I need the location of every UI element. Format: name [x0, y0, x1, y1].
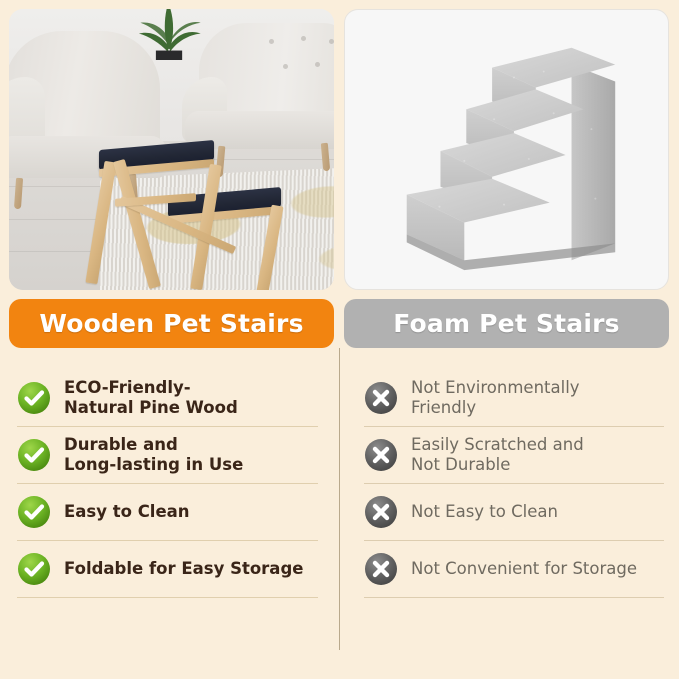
product-cards: Wooden Pet Stairs: [0, 0, 679, 348]
feature-text: Not Environmentally Friendly: [411, 378, 580, 419]
check-icon: [17, 438, 51, 472]
banner-title-wooden: Wooden Pet Stairs: [9, 299, 334, 348]
feature-text: Easy to Clean: [64, 502, 190, 522]
feature-list-wooden: ECO-Friendly- Natural Pine Wood Durable …: [0, 370, 339, 598]
check-icon: [17, 495, 51, 529]
wooden-pet-stairs-photo: [9, 9, 334, 290]
wooden-stairs-product: [87, 133, 289, 290]
list-item: Not Easy to Clean: [364, 484, 664, 540]
cross-icon: [364, 381, 398, 415]
column-divider: [339, 348, 340, 650]
foam-stairs-product: [345, 10, 668, 289]
cross-icon: [364, 438, 398, 472]
feature-text: Not Convenient for Storage: [411, 559, 637, 579]
feature-list-foam: Not Environmentally Friendly Easily Scra…: [339, 370, 678, 598]
list-item: Not Convenient for Storage: [364, 541, 664, 597]
cross-icon: [364, 495, 398, 529]
list-item: Easily Scratched and Not Durable: [364, 427, 664, 483]
product-card-wooden: Wooden Pet Stairs: [9, 9, 334, 348]
check-icon: [17, 381, 51, 415]
list-item: Foldable for Easy Storage: [17, 541, 318, 597]
list-item: ECO-Friendly- Natural Pine Wood: [17, 370, 318, 426]
feature-text: Not Easy to Clean: [411, 502, 558, 522]
separator: [17, 597, 318, 598]
banner-title-foam: Foam Pet Stairs: [344, 299, 669, 348]
feature-text: Durable and Long-lasting in Use: [64, 435, 243, 476]
feature-text: ECO-Friendly- Natural Pine Wood: [64, 378, 238, 419]
check-icon: [17, 552, 51, 586]
foam-pet-stairs-photo: [344, 9, 669, 290]
product-card-foam: Foam Pet Stairs: [344, 9, 669, 348]
separator: [364, 597, 664, 598]
cross-icon: [364, 552, 398, 586]
feature-text: Easily Scratched and Not Durable: [411, 435, 584, 476]
list-item: Easy to Clean: [17, 484, 318, 540]
list-item: Durable and Long-lasting in Use: [17, 427, 318, 483]
feature-text: Foldable for Easy Storage: [64, 559, 303, 579]
living-room-scene: [9, 9, 334, 290]
list-item: Not Environmentally Friendly: [364, 370, 664, 426]
comparison-infographic: Wooden Pet Stairs: [0, 0, 679, 679]
feature-lists: ECO-Friendly- Natural Pine Wood Durable …: [0, 348, 679, 598]
